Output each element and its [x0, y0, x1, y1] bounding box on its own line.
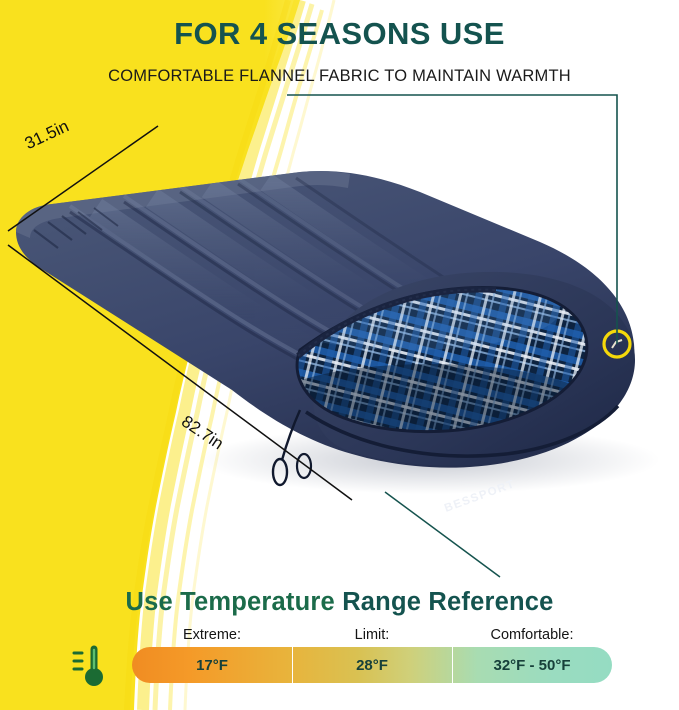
page-title: FOR 4 SEASONS USE — [0, 0, 679, 49]
temperature-section: Use Temperature Range Reference Extreme:… — [0, 585, 679, 710]
header: FOR 4 SEASONS USE COMFORTABLE FLANNEL FA… — [0, 0, 679, 85]
temperature-title-part1: Use Temperature — [125, 588, 342, 616]
temperature-value-limit: 28°F — [292, 647, 452, 683]
temperature-column-labels: Extreme: Limit: Comfortable: — [132, 628, 612, 643]
temperature-value-extreme: 17°F — [132, 647, 292, 683]
callout-line-zipper — [287, 95, 617, 344]
infographic-canvas: FOR 4 SEASONS USE COMFORTABLE FLANNEL FA… — [0, 0, 679, 710]
temperature-section-title: Use Temperature Range Reference — [0, 585, 679, 617]
temperature-title-part2: Range Reference — [342, 588, 553, 616]
temperature-range-bar: 17°F 28°F 32°F - 50°F — [132, 647, 612, 683]
thermometer-ticks — [74, 653, 82, 669]
page-subtitle: COMFORTABLE FLANNEL FABRIC TO MAINTAIN W… — [0, 49, 679, 85]
column-label-extreme: Extreme: — [132, 628, 292, 643]
column-label-comfortable: Comfortable: — [452, 628, 612, 643]
dimension-line-length — [8, 245, 352, 500]
temperature-value-comfortable: 32°F - 50°F — [452, 647, 612, 683]
column-label-limit: Limit: — [292, 628, 452, 643]
callout-line-bottom — [385, 492, 500, 577]
thermometer-icon — [62, 643, 122, 689]
thermometer-bulb — [85, 668, 103, 686]
